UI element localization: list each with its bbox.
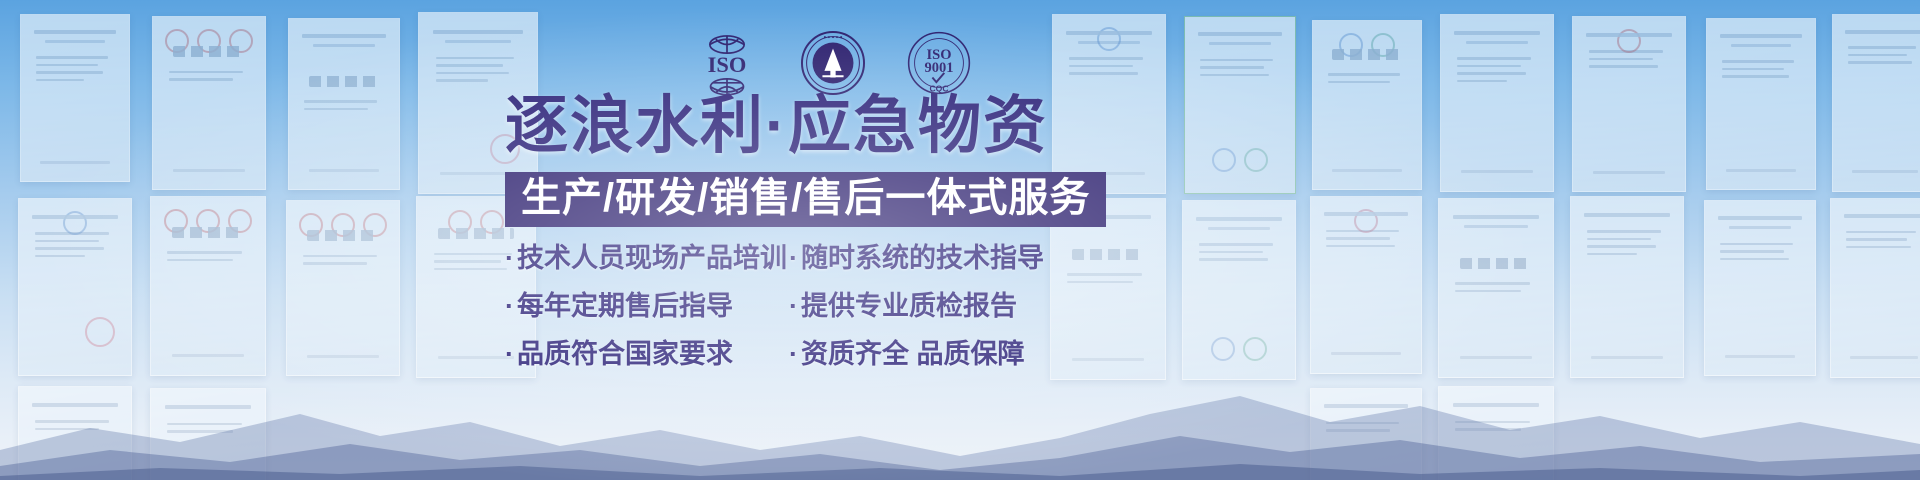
list-item: ·品质符合国家要求 bbox=[505, 341, 789, 368]
promo-banner: ISO ● ● ● ● ● ISO 9001 CQC 逐浪水利·应急物资 生产/ bbox=[0, 0, 1920, 480]
bullet-icon: · bbox=[789, 339, 798, 369]
svg-text:● ● ● ● ●: ● ● ● ● ● bbox=[823, 35, 842, 40]
bullet-icon: · bbox=[505, 339, 514, 369]
list-item-label: 随时系统的技术指导 bbox=[801, 243, 1044, 273]
certificate-thumbnail bbox=[20, 14, 130, 182]
bullet-icon: · bbox=[789, 291, 798, 321]
list-item-label: 技术人员现场产品培训 bbox=[517, 243, 787, 273]
list-item-label: 提供专业质检报告 bbox=[801, 291, 1017, 321]
banner-text-block: 逐浪水利·应急物资 生产/研发/销售/售后一体式服务 ·技术人员现场产品培训 ·… bbox=[505, 95, 1085, 368]
certification-logo-row: ISO ● ● ● ● ● ISO 9001 CQC bbox=[694, 30, 972, 96]
list-item: ·技术人员现场产品培训 bbox=[505, 245, 789, 272]
page-title: 逐浪水利·应急物资 bbox=[505, 95, 1085, 158]
certificate-thumbnail bbox=[152, 16, 266, 190]
certificate-thumbnail bbox=[1440, 14, 1554, 192]
bullet-icon: · bbox=[505, 291, 514, 321]
certificate-thumbnail bbox=[1832, 14, 1920, 192]
list-item: ·提供专业质检报告 bbox=[789, 293, 1085, 320]
iso-9001-cqc-logo: ISO 9001 CQC bbox=[906, 30, 972, 96]
certificate-thumbnail bbox=[288, 18, 400, 190]
certificate-thumbnail bbox=[1312, 20, 1422, 190]
bullet-icon: · bbox=[505, 243, 514, 273]
certification-seal-logo: ● ● ● ● ● bbox=[800, 30, 866, 96]
bullet-icon: · bbox=[789, 243, 798, 273]
list-item-label: 品质符合国家要求 bbox=[517, 339, 733, 369]
certificate-thumbnail bbox=[1706, 18, 1816, 190]
list-item-label: 资质齐全 品质保障 bbox=[801, 339, 1025, 369]
svg-text:9001: 9001 bbox=[924, 60, 953, 76]
list-item-label: 每年定期售后指导 bbox=[517, 291, 733, 321]
certificate-thumbnail bbox=[1572, 16, 1686, 192]
svg-text:ISO: ISO bbox=[708, 52, 747, 77]
list-item: ·每年定期售后指导 bbox=[505, 293, 789, 320]
certificate-thumbnail bbox=[1184, 16, 1296, 194]
iso-globe-logo: ISO bbox=[694, 30, 760, 96]
list-item: ·资质齐全 品质保障 bbox=[789, 341, 1085, 368]
feature-list: ·技术人员现场产品培训 ·随时系统的技术指导 ·每年定期售后指导 ·提供专业质检… bbox=[505, 245, 1085, 368]
list-item: ·随时系统的技术指导 bbox=[789, 245, 1085, 272]
service-scope-bar: 生产/研发/销售/售后一体式服务 bbox=[505, 172, 1106, 227]
